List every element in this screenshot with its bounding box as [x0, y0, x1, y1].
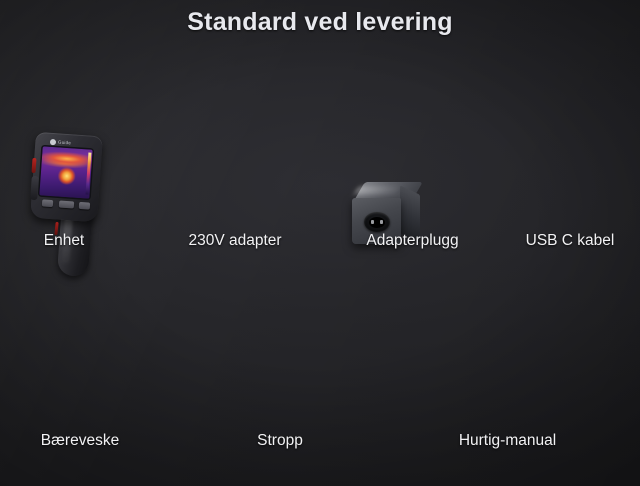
thermal-image	[39, 146, 92, 198]
caption-quick-manual: Hurtig-manual	[400, 432, 615, 450]
camera-button-left	[42, 199, 53, 207]
caption-carry-case: Bæreveske	[0, 432, 160, 450]
camera-thermal-screen	[39, 146, 92, 198]
camera-brand-label: Guide	[58, 140, 71, 146]
camera-button-center	[58, 200, 73, 208]
item-adapter-plug: Adapterplugg	[330, 60, 495, 260]
caption-power-adapter: 230V adapter	[145, 232, 325, 250]
item-quick-manual: te Card Results and feedbacks after repa…	[400, 290, 615, 460]
slide-canvas: Standard ved levering Guide E	[0, 0, 640, 486]
item-strap: Stropp	[200, 290, 360, 460]
caption-device: Enhet	[0, 232, 128, 250]
thermal-camera-icon: Guide	[22, 130, 114, 278]
caption-adapter-plug: Adapterplugg	[330, 232, 495, 250]
caption-strap: Stropp	[200, 432, 360, 450]
item-device: Guide Enhet	[0, 60, 128, 260]
item-usb-c-cable: USB C kabel	[500, 60, 640, 260]
camera-button-right	[79, 202, 90, 210]
caption-usb-c-cable: USB C kabel	[500, 232, 640, 250]
camera-brand-mark	[50, 138, 56, 144]
item-carry-case: Guide Bæreveske	[0, 290, 160, 460]
item-power-adapter: 230V adapter	[145, 60, 325, 260]
page-title: Standard ved levering	[0, 8, 640, 37]
